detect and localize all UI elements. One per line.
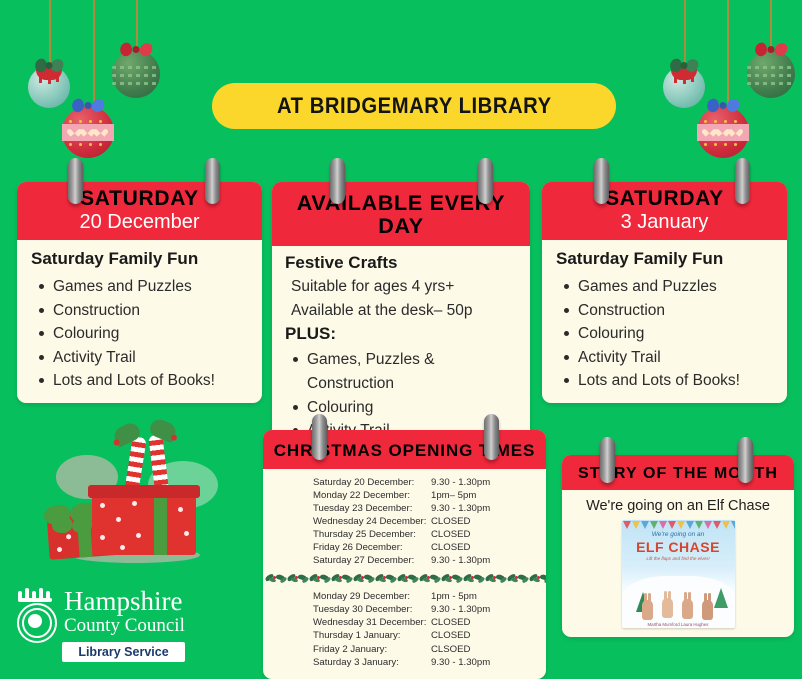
cover-authors: Martha Mumford Laura Hughes bbox=[622, 622, 735, 627]
opening-times-row: Tuesday 30 December:9.30 - 1.30pm bbox=[263, 603, 546, 616]
list-item: Colouring bbox=[53, 322, 248, 346]
crown-icon bbox=[18, 590, 52, 602]
card-ring bbox=[484, 414, 499, 460]
opening-times-row: Tuesday 23 December:9.30 - 1.30pm bbox=[263, 502, 546, 515]
card-note: Available at the desk– 50p bbox=[285, 299, 517, 323]
card-ring bbox=[600, 437, 615, 483]
library-name-text: AT BRIDGEMARY LIBRARY bbox=[277, 93, 552, 119]
christmas-opening-times-card: CHRISTMAS OPENING TIMES Saturday 20 Dece… bbox=[263, 430, 546, 679]
opening-times-day: Friday 2 January: bbox=[263, 643, 431, 656]
list-item: Lots and Lots of Books! bbox=[578, 369, 773, 393]
card-header: SATURDAY 20 December bbox=[17, 182, 262, 240]
cover-line-2: ELF CHASE bbox=[622, 539, 735, 555]
rabbit-icon bbox=[702, 600, 713, 620]
cover-line-1: We're going on an bbox=[622, 531, 735, 538]
card-subheading: Saturday Family Fun bbox=[31, 249, 248, 269]
opening-times-row: Saturday 27 December:9.30 - 1.30pm bbox=[263, 554, 546, 567]
story-of-the-month-card: STORY OF THE MONTH We're going on an Elf… bbox=[562, 455, 794, 637]
tree-icon bbox=[714, 588, 728, 608]
list-item: Activity Trail bbox=[578, 346, 773, 370]
list-item: Lots and Lots of Books! bbox=[53, 369, 248, 393]
opening-times-hours: CLSOED bbox=[431, 643, 536, 656]
activity-list: Games and Puzzles Construction Colouring… bbox=[556, 275, 773, 393]
activity-card-saturday-3-january: SATURDAY 3 January Saturday Family Fun G… bbox=[542, 182, 787, 403]
card-ring bbox=[594, 158, 609, 204]
opening-times-row: Wednesday 24 December:CLOSED bbox=[263, 515, 546, 528]
card-ring bbox=[330, 158, 345, 204]
hampshire-county-council-logo: Hampshire County Council Library Service bbox=[14, 586, 194, 662]
opening-times-day: Wednesday 24 December: bbox=[263, 515, 431, 528]
poster-canvas: HOLIDAY ACTIVITIES AT BRIDGEMARY LIBRARY… bbox=[0, 0, 802, 675]
card-header: STORY OF THE MONTH bbox=[562, 455, 794, 490]
card-ring bbox=[205, 158, 220, 204]
opening-times-row: Saturday 20 December:9.30 - 1.30pm bbox=[263, 476, 546, 489]
opening-times-hours: 1pm - 5pm bbox=[431, 590, 536, 603]
opening-times-hours: CLOSED bbox=[431, 515, 536, 528]
logo-name-line1: Hampshire bbox=[64, 588, 185, 616]
holly-divider-icon bbox=[263, 570, 546, 586]
list-item: Construction bbox=[578, 299, 773, 323]
opening-times-hours: 1pm– 5pm bbox=[431, 489, 536, 502]
list-item: Activity Trail bbox=[53, 346, 248, 370]
opening-times-hours: 9.30 - 1.30pm bbox=[431, 554, 536, 567]
list-item: Games and Puzzles bbox=[578, 275, 773, 299]
opening-times-hours: 9.30 - 1.30pm bbox=[431, 603, 536, 616]
opening-times-day: Thursday 25 December: bbox=[263, 528, 431, 541]
cover-line-3: Lift the flaps and find the elves! bbox=[622, 556, 735, 561]
opening-times-hours: CLOSED bbox=[431, 616, 536, 629]
opening-times-day: Monday 22 December: bbox=[263, 489, 431, 502]
card-header: CHRISTMAS OPENING TIMES bbox=[263, 430, 546, 469]
card-ring bbox=[68, 158, 83, 204]
gift-lid bbox=[88, 485, 200, 498]
library-service-label: Library Service bbox=[78, 645, 168, 659]
activity-card-saturday-20-december: SATURDAY 20 December Saturday Family Fun… bbox=[17, 182, 262, 403]
gift-box-large bbox=[92, 493, 196, 555]
opening-times-row: Wednesday 31 December:CLOSED bbox=[263, 616, 546, 629]
rabbit-icon bbox=[682, 599, 693, 619]
logo-name-line2: County Council bbox=[64, 616, 185, 637]
opening-times-day: Monday 29 December: bbox=[263, 590, 431, 603]
opening-times-hours: CLOSED bbox=[431, 629, 536, 642]
bauble-red-hearts bbox=[62, 106, 114, 158]
opening-times-row: Friday 2 January:CLSOED bbox=[263, 643, 546, 656]
opening-times-day: Saturday 27 December: bbox=[263, 554, 431, 567]
crest-icon bbox=[14, 590, 56, 642]
opening-times-row: Friday 26 December:CLOSED bbox=[263, 541, 546, 554]
card-subheading: Saturday Family Fun bbox=[556, 249, 773, 269]
card-ring bbox=[312, 414, 327, 460]
list-item: Games, Puzzles & Construction bbox=[307, 348, 517, 395]
opening-times-row: Thursday 25 December:CLOSED bbox=[263, 528, 546, 541]
card-header-date: 3 January bbox=[546, 211, 783, 233]
bunting-icon bbox=[622, 520, 735, 531]
rabbit-icon bbox=[642, 600, 653, 620]
opening-times-day: Wednesday 31 December: bbox=[263, 616, 431, 629]
story-title: We're going on an Elf Chase bbox=[562, 490, 794, 520]
opening-times-hours: CLOSED bbox=[431, 541, 536, 554]
opening-times-hours: 9.30 - 1.30pm bbox=[431, 656, 536, 669]
card-header-date: 20 December bbox=[21, 211, 258, 233]
gift-box-elf-illustration bbox=[40, 415, 225, 575]
opening-times-row: Monday 29 December:1pm - 5pm bbox=[263, 590, 546, 603]
list-item: Construction bbox=[53, 299, 248, 323]
library-name-pill: AT BRIDGEMARY LIBRARY bbox=[212, 83, 616, 129]
opening-times-row: Thursday 1 January:CLOSED bbox=[263, 629, 546, 642]
rabbit-icon bbox=[662, 598, 673, 618]
card-subheading: Festive Crafts bbox=[285, 253, 517, 273]
card-header: SATURDAY 3 January bbox=[542, 182, 787, 240]
card-ring bbox=[735, 158, 750, 204]
opening-times-row: Monday 22 December:1pm– 5pm bbox=[263, 489, 546, 502]
card-ring bbox=[478, 158, 493, 204]
opening-times-day: Thursday 1 January: bbox=[263, 629, 431, 642]
activity-list: Games and Puzzles Construction Colouring… bbox=[31, 275, 248, 393]
opening-times-row: Saturday 3 January:9.30 - 1.30pm bbox=[263, 656, 546, 669]
card-body: Saturday Family Fun Games and Puzzles Co… bbox=[542, 240, 787, 403]
opening-times-day: Friday 26 December: bbox=[263, 541, 431, 554]
opening-times-hours: CLOSED bbox=[431, 528, 536, 541]
library-service-badge: Library Service bbox=[62, 642, 185, 662]
plus-label: PLUS: bbox=[285, 324, 517, 344]
opening-times-day: Tuesday 30 December: bbox=[263, 603, 431, 616]
bauble-red-hearts bbox=[697, 106, 749, 158]
opening-times-day: Saturday 3 January: bbox=[263, 656, 431, 669]
card-note: Suitable for ages 4 yrs+ bbox=[285, 275, 517, 299]
card-body: Saturday Family Fun Games and Puzzles Co… bbox=[17, 240, 262, 403]
list-item: Colouring bbox=[578, 322, 773, 346]
logo-name: Hampshire County Council bbox=[64, 588, 185, 636]
opening-times-hours: 9.30 - 1.30pm bbox=[431, 502, 536, 515]
list-item: Games and Puzzles bbox=[53, 275, 248, 299]
book-cover-image: We're going on an ELF CHASE Lift the fla… bbox=[622, 520, 735, 628]
opening-times-day: Tuesday 23 December: bbox=[263, 502, 431, 515]
card-header-day: SATURDAY bbox=[21, 188, 258, 211]
opening-times-hours: 9.30 - 1.30pm bbox=[431, 476, 536, 489]
card-ring bbox=[738, 437, 753, 483]
opening-times-day: Saturday 20 December: bbox=[263, 476, 431, 489]
opening-times-table: Saturday 20 December:9.30 - 1.30pmMonday… bbox=[263, 469, 546, 679]
